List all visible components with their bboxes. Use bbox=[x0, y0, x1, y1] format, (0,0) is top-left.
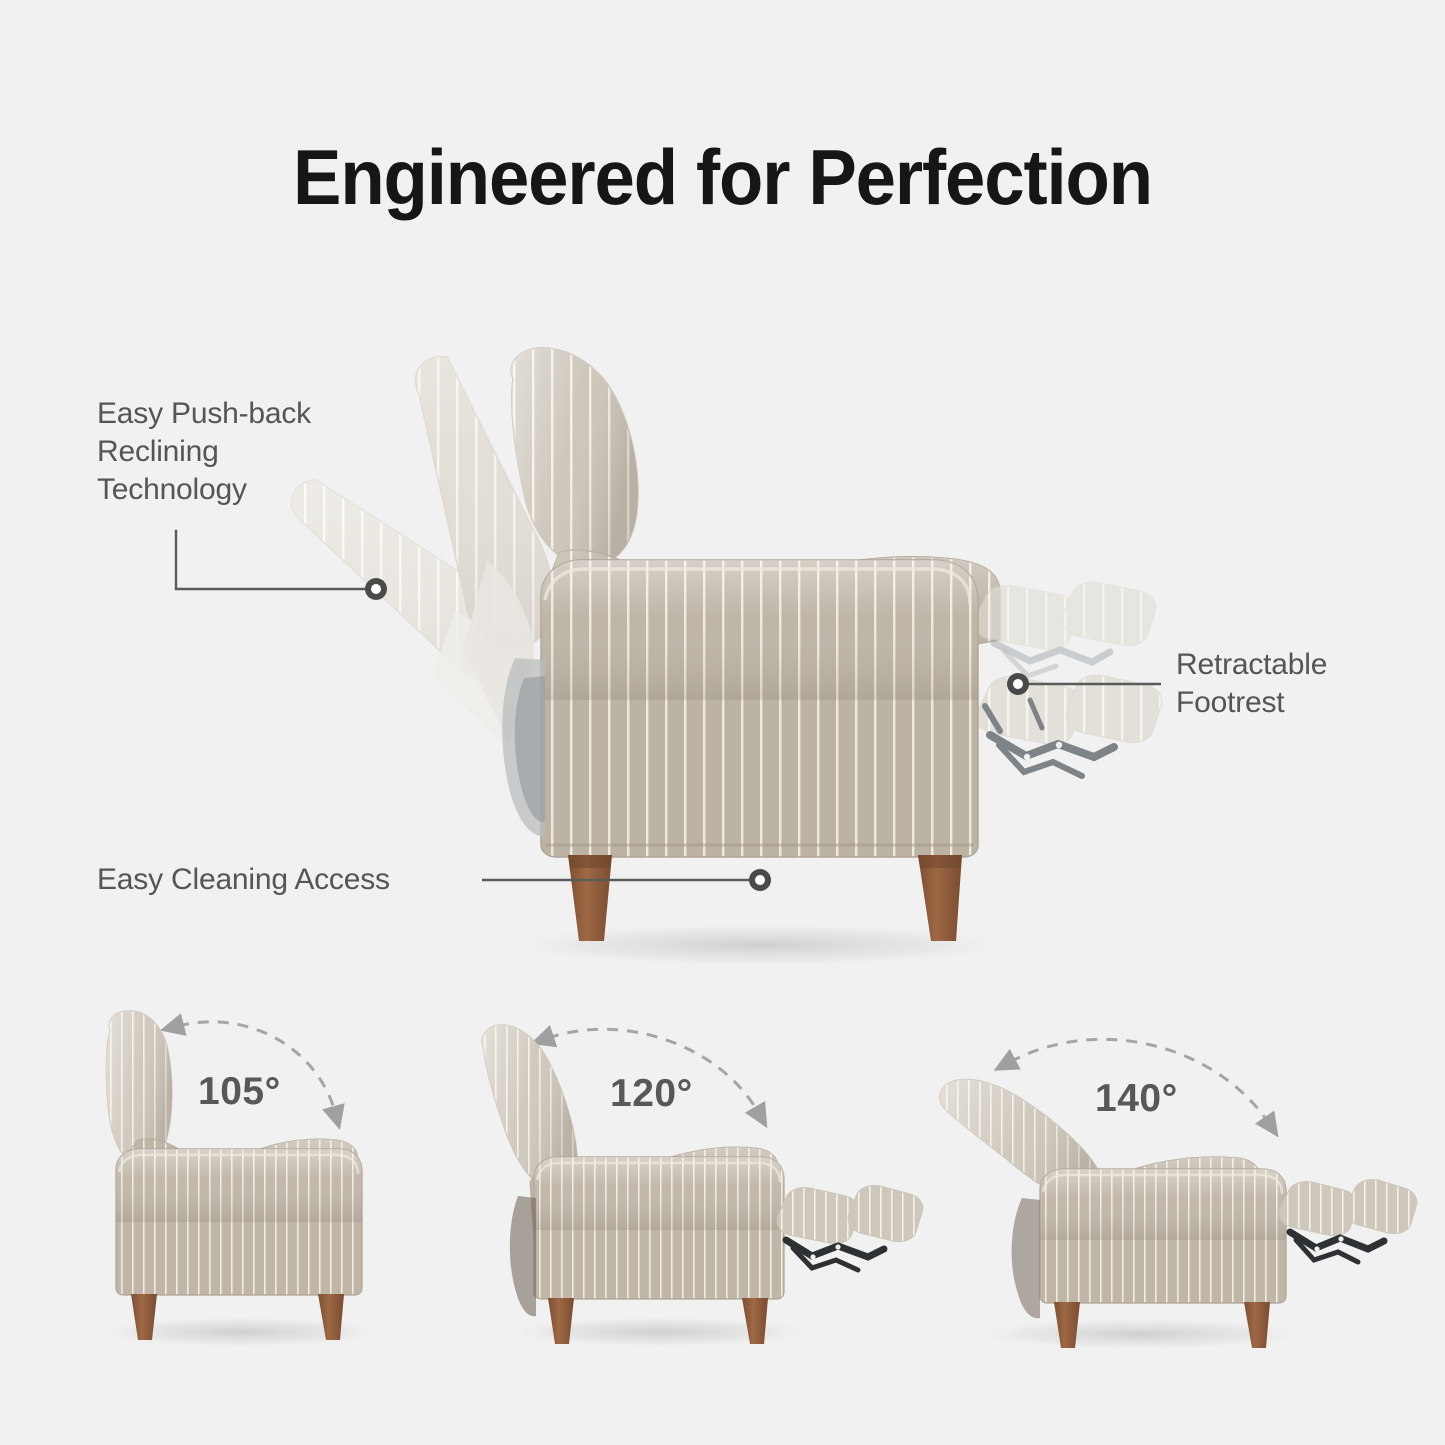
callout-label-recline: Easy Push-back Reclining Technology bbox=[97, 395, 311, 509]
recline-stage-105-group bbox=[90, 1011, 390, 1348]
footrest-pad-140-inner bbox=[1279, 1181, 1357, 1235]
marker-cleaning[interactable] bbox=[749, 869, 771, 891]
footrest-pad-120-outer bbox=[848, 1185, 923, 1241]
chair-leg-front bbox=[568, 855, 612, 941]
footrest-ghost-lower bbox=[976, 675, 1162, 776]
chair-legs bbox=[568, 855, 962, 941]
footrest-pad-120-inner bbox=[777, 1187, 859, 1243]
footrest-ghost-upper bbox=[974, 582, 1156, 676]
leader-line-recline bbox=[176, 531, 376, 589]
hero-floor-shadow bbox=[500, 923, 1020, 967]
footrest-pad-140-outer bbox=[1346, 1179, 1417, 1233]
seat-back-rail bbox=[688, 557, 1000, 694]
backrest-upright bbox=[511, 348, 690, 706]
backrest-ghost-reclined bbox=[291, 480, 533, 742]
recline-stage-140-group bbox=[940, 1039, 1417, 1350]
infographic-canvas: Engineered for Perfection bbox=[0, 0, 1445, 1445]
chair-leg-back bbox=[918, 855, 962, 941]
backrest-ghost-mid bbox=[415, 357, 553, 742]
recline-mechanism bbox=[502, 658, 545, 836]
marker-recline[interactable] bbox=[365, 578, 387, 600]
angle-label-120: 120° bbox=[610, 1072, 693, 1116]
page-title: Engineered for Perfection bbox=[51, 132, 1395, 223]
recline-stage-120-group bbox=[482, 1025, 923, 1348]
angle-label-140: 140° bbox=[1095, 1077, 1178, 1121]
callout-label-cleaning: Easy Cleaning Access bbox=[97, 861, 390, 899]
chair-arm-side-panel bbox=[541, 560, 978, 857]
angle-label-105: 105° bbox=[198, 1070, 281, 1114]
callout-label-footrest: Retractable Footrest bbox=[1176, 646, 1327, 722]
marker-footrest[interactable] bbox=[1007, 673, 1029, 695]
